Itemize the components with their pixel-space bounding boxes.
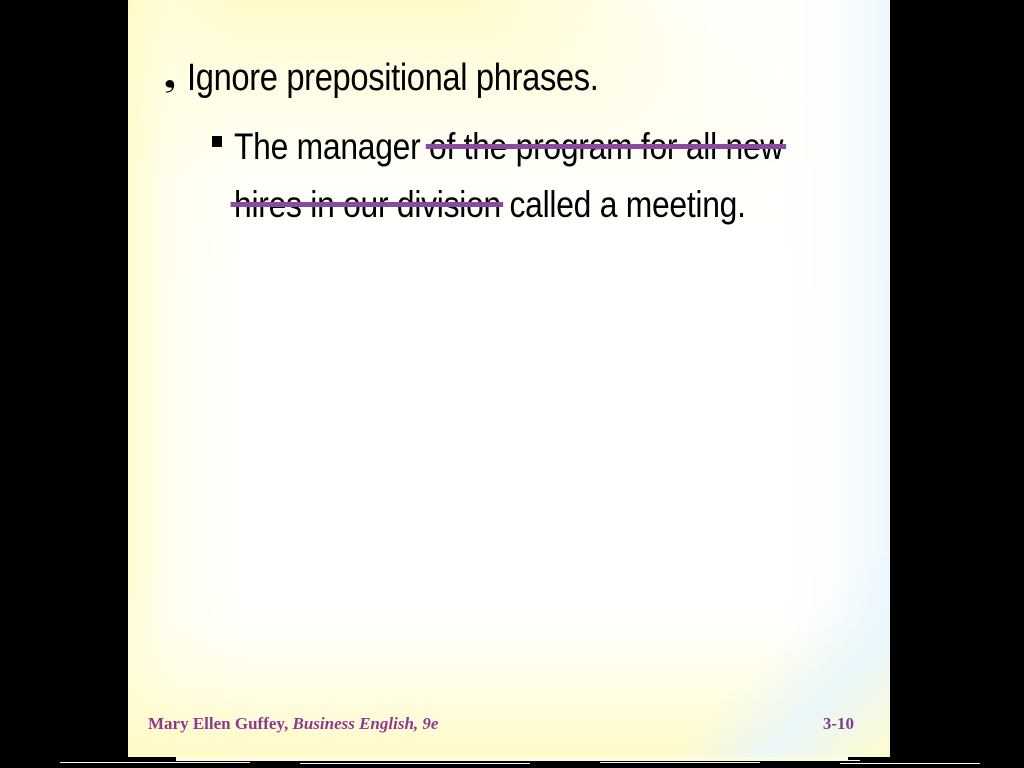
footer-book-title: Business English, 9e xyxy=(292,714,438,733)
example-text-keep-before: The manager xyxy=(234,126,429,167)
example-sentence-line-2: hires in our division called a meeting. xyxy=(234,176,783,234)
square-bullet-icon xyxy=(212,136,222,147)
example-sentence: The manager of the program for all new h… xyxy=(234,118,783,234)
bullet-level1: ❟ Ignore prepositional phrases. xyxy=(164,55,665,101)
background-wash-corner-bottom-right xyxy=(680,557,890,757)
background-wash-right xyxy=(780,0,890,757)
background-wash-left xyxy=(128,0,248,757)
example-text-struck-1: of the program for all new xyxy=(429,126,783,167)
circled-number-two-icon: ❟ xyxy=(164,55,176,99)
bottom-strip-5 xyxy=(840,763,980,764)
bottom-strip-4 xyxy=(600,762,760,763)
slide-number: 3-10 xyxy=(823,714,854,734)
example-text-keep-after: called a meeting. xyxy=(501,184,746,225)
footer-author: Mary Ellen Guffey, xyxy=(148,714,292,733)
screenshot-root: ❟ Ignore prepositional phrases. The mana… xyxy=(0,0,1024,768)
bottom-strip-2 xyxy=(60,762,250,763)
footer-attribution: Mary Ellen Guffey, Business English, 9e xyxy=(148,714,438,734)
bottom-strip-3 xyxy=(300,763,530,764)
presentation-slide: ❟ Ignore prepositional phrases. The mana… xyxy=(128,0,890,757)
bullet-level2: The manager of the program for all new h… xyxy=(212,118,873,234)
bullet-level1-text: Ignore prepositional phrases. xyxy=(187,55,599,101)
example-text-struck-2: hires in our division xyxy=(234,184,501,225)
example-sentence-line-1: The manager of the program for all new xyxy=(234,118,783,176)
bottom-strip-6 xyxy=(440,760,860,761)
